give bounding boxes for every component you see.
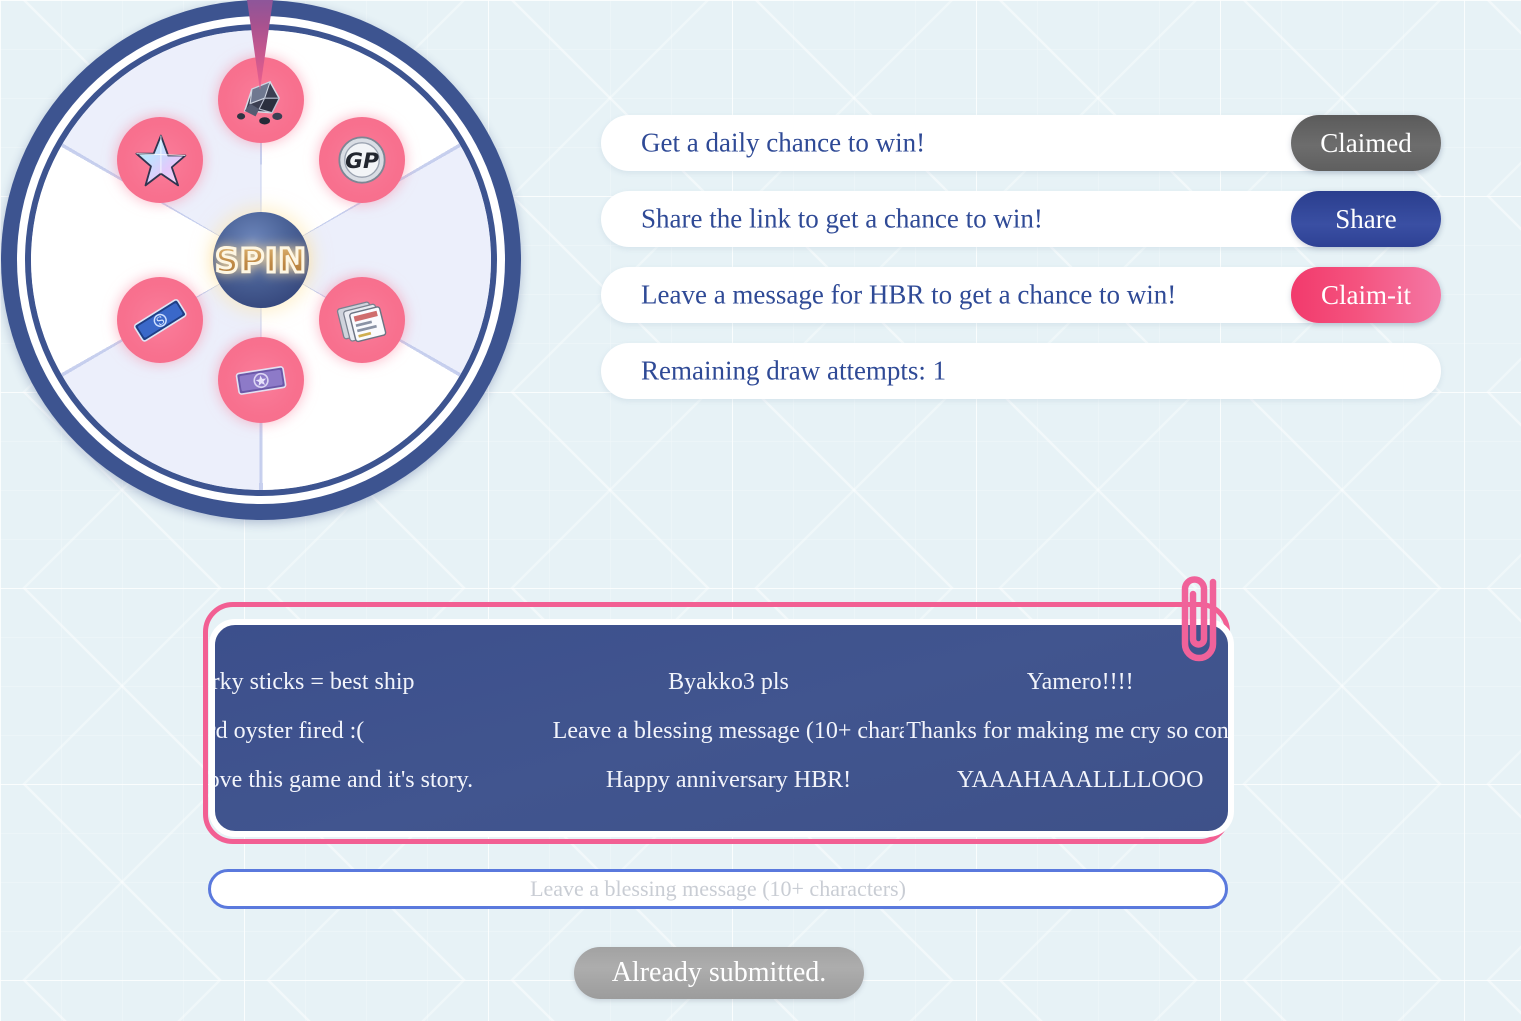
prize-slot-prism-star[interactable]	[117, 117, 203, 203]
task-label-message: Leave a message for HBR to get a chance …	[641, 280, 1176, 311]
spin-button-label: SPIN	[215, 241, 307, 280]
purple-ticket-icon	[232, 351, 290, 409]
submit-message-button[interactable]: Already submitted.	[574, 947, 864, 999]
board-message: erky sticks = best ship	[209, 669, 553, 696]
wheel-face[interactable]: GP	[31, 30, 491, 490]
board-card: erky sticks = best ship Byakko3 pls Yame…	[209, 619, 1234, 837]
remaining-attempts-label: Remaining draw attempts: 1	[641, 356, 946, 387]
prize-slot-purple-ticket[interactable]	[218, 337, 304, 423]
board-message-grid: erky sticks = best ship Byakko3 pls Yame…	[209, 669, 1234, 794]
document-stack-icon	[333, 291, 391, 349]
prize-slot-gp-coin[interactable]: GP	[319, 117, 405, 203]
task-row: Leave a message for HBR to get a chance …	[601, 267, 1441, 323]
prize-slot-blue-ticket[interactable]: S	[117, 277, 203, 363]
spin-button[interactable]: SPIN	[213, 212, 309, 308]
message-board: erky sticks = best ship Byakko3 pls Yame…	[195, 595, 1245, 855]
pointer-triangle-icon	[239, 0, 281, 90]
board-message: ird oyster fired :(	[209, 718, 553, 745]
gp-coin-icon: GP	[333, 131, 391, 189]
board-message: YAAAHAAALLLLOOO	[904, 767, 1234, 794]
task-row: Share the link to get a chance to win! S…	[601, 191, 1441, 247]
paperclip-icon	[1175, 570, 1235, 680]
task-label-daily: Get a daily chance to win!	[641, 128, 925, 159]
prism-star-icon	[131, 131, 189, 189]
spin-wheel-widget[interactable]: GP	[0, 0, 530, 525]
board-message: Happy anniversary HBR!	[553, 767, 905, 794]
prize-slot-document-stack[interactable]	[319, 277, 405, 363]
board-message: Byakko3 pls	[553, 669, 905, 696]
task-label-share: Share the link to get a chance to win!	[641, 204, 1043, 235]
blessing-message-input[interactable]	[208, 869, 1228, 909]
svg-text:GP: GP	[345, 149, 379, 174]
share-button[interactable]: Share	[1291, 191, 1441, 247]
claim-it-button[interactable]: Claim-it	[1291, 267, 1441, 323]
blue-ticket-icon: S	[131, 291, 189, 349]
board-message: Leave a blessing message (10+ characters…	[553, 718, 905, 745]
board-message: love this game and it's story.	[209, 767, 553, 794]
remaining-attempts-row: Remaining draw attempts: 1	[601, 343, 1441, 399]
claimed-button[interactable]: Claimed	[1291, 115, 1441, 171]
task-row: Get a daily chance to win! Claimed	[601, 115, 1441, 171]
task-panel: Get a daily chance to win! Claimed Share…	[601, 115, 1441, 419]
board-message: Thanks for making me cry so consis	[904, 718, 1234, 745]
